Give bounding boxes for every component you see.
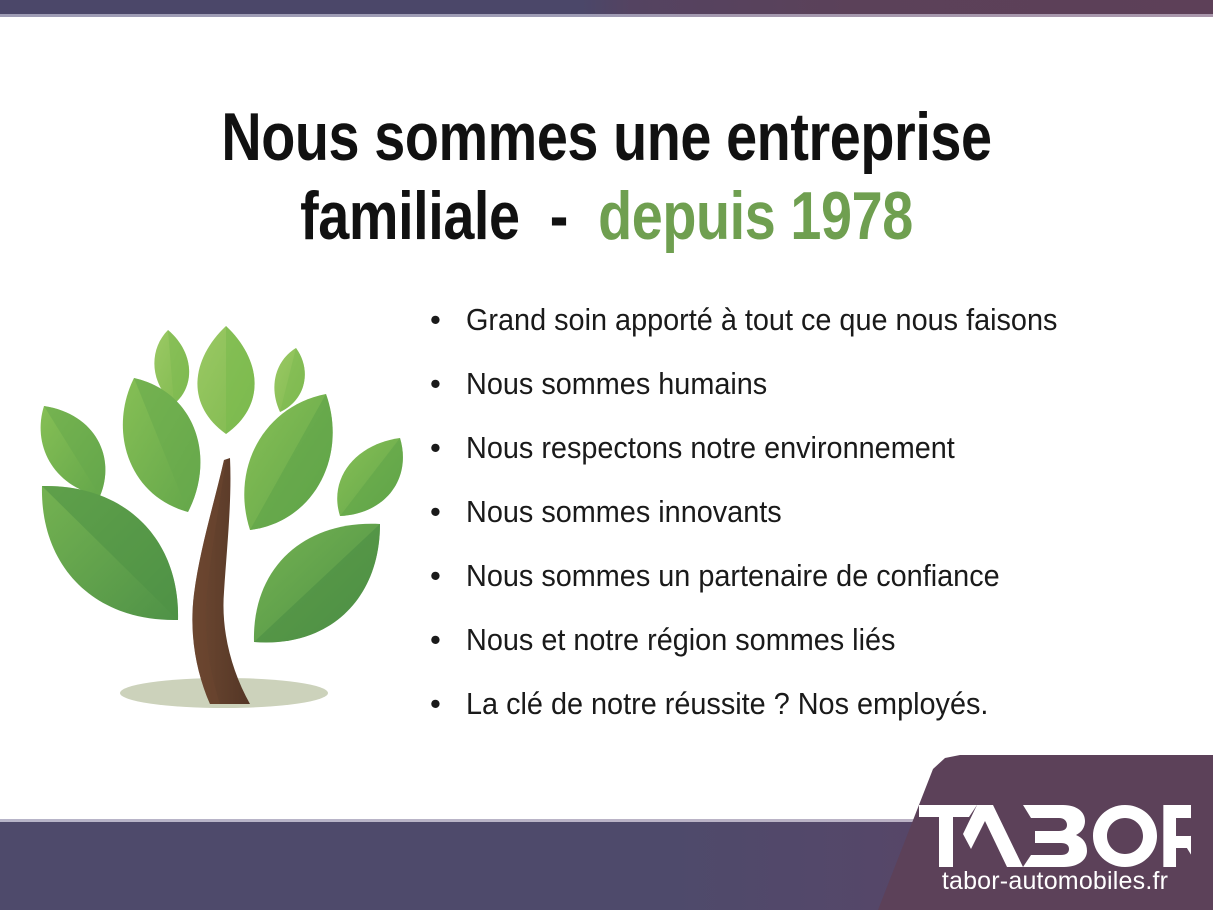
- headline-main-text: familiale: [300, 178, 519, 254]
- list-item-label: Nous sommes innovants: [466, 480, 1121, 544]
- leaf-lower-right-large: [254, 524, 380, 643]
- list-item: • Nous sommes humains: [430, 352, 1170, 416]
- leaf-top-center: [197, 326, 254, 434]
- value-bullet-list: • Grand soin apporté à tout ce que nous …: [430, 288, 1170, 736]
- list-item-label: Nous sommes un partenaire de confiance: [466, 544, 1121, 608]
- list-item: • Nous et notre région sommes liés: [430, 608, 1170, 672]
- list-item-label: Nous respectons notre environnement: [466, 416, 1121, 480]
- list-item-label: La clé de notre réussite ? Nos employés.: [466, 672, 1121, 736]
- slide-canvas: Nous sommes une entreprise familiale - d…: [0, 0, 1213, 910]
- leaf-upper-right-large: [244, 394, 332, 530]
- brand-logo-content: tabor-automobiles.fr: [919, 805, 1191, 894]
- list-item-label: Nous sommes humains: [466, 352, 1121, 416]
- list-item: • Nous sommes un partenaire de confiance: [430, 544, 1170, 608]
- bullet-marker-icon: •: [430, 416, 466, 480]
- bullet-marker-icon: •: [430, 288, 466, 352]
- top-decor-hairline: [0, 14, 1213, 17]
- list-item-label: Grand soin apporté à tout ce que nous fa…: [466, 288, 1121, 352]
- brand-url-label: tabor-automobiles.fr: [919, 869, 1191, 894]
- headline-dash: -: [520, 178, 598, 254]
- leaf-lower-left-large: [42, 486, 178, 620]
- bullet-marker-icon: •: [430, 480, 466, 544]
- list-item: • Nous respectons notre environnement: [430, 416, 1170, 480]
- leaf-top-right-small: [274, 348, 304, 412]
- tabor-wordmark-icon: [919, 805, 1191, 867]
- headline-line-2: familiale - depuis 1978: [109, 177, 1104, 257]
- list-item: • Nous sommes innovants: [430, 480, 1170, 544]
- leaf-mid-right-small: [337, 438, 403, 516]
- list-item-label: Nous et notre région sommes liés: [466, 608, 1121, 672]
- headline-accent-text: depuis 1978: [598, 178, 913, 254]
- bullet-marker-icon: •: [430, 352, 466, 416]
- list-item: • La clé de notre réussite ? Nos employé…: [430, 672, 1170, 736]
- top-decor-band: [0, 0, 1213, 14]
- tree-illustration: [28, 308, 426, 720]
- page-title: Nous sommes une entreprise familiale - d…: [109, 98, 1104, 257]
- list-item: • Grand soin apporté à tout ce que nous …: [430, 288, 1170, 352]
- headline-line-1: Nous sommes une entreprise: [109, 98, 1104, 178]
- leaf-upper-left-large: [123, 378, 201, 512]
- bullet-marker-icon: •: [430, 608, 466, 672]
- bullet-marker-icon: •: [430, 544, 466, 608]
- leaf-mid-left-small: [41, 406, 106, 496]
- bullet-marker-icon: •: [430, 672, 466, 736]
